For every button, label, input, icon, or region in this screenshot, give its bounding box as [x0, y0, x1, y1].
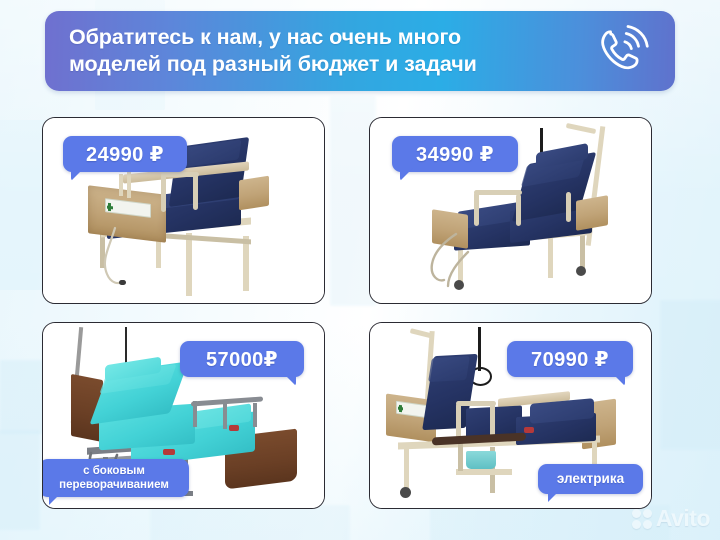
promo-page: Обратитесь к нам, у нас очень много моде… [0, 0, 720, 540]
phone-call-icon [593, 23, 649, 79]
price-text: 57000₽ [206, 347, 278, 372]
product-card[interactable]: 70990 ₽ электрика [369, 322, 652, 509]
header-banner: Обратитесь к нам, у нас очень много моде… [45, 11, 675, 91]
feature-text: электрика [557, 472, 624, 486]
product-card[interactable]: 24990 ₽ [42, 117, 325, 304]
avito-dots-icon [632, 509, 652, 529]
price-badge: 24990 ₽ [63, 136, 187, 172]
product-card[interactable]: 34990 ₽ [369, 117, 652, 304]
banner-headline: Обратитесь к нам, у нас очень много моде… [69, 24, 477, 78]
price-text: 70990 ₽ [531, 347, 609, 372]
price-text: 34990 ₽ [416, 142, 494, 167]
avito-watermark-text: Avito [656, 505, 710, 532]
avito-watermark: Avito [632, 505, 710, 532]
price-badge: 57000₽ [180, 341, 304, 377]
price-text: 24990 ₽ [86, 142, 164, 167]
price-badge: 34990 ₽ [392, 136, 518, 172]
product-card[interactable]: 57000₽ с боковым переворачиванием [42, 322, 325, 509]
price-badge: 70990 ₽ [507, 341, 633, 377]
feature-badge: электрика [538, 464, 643, 494]
feature-text: с боковым переворачиванием [59, 464, 169, 492]
feature-badge: с боковым переворачиванием [42, 459, 189, 497]
